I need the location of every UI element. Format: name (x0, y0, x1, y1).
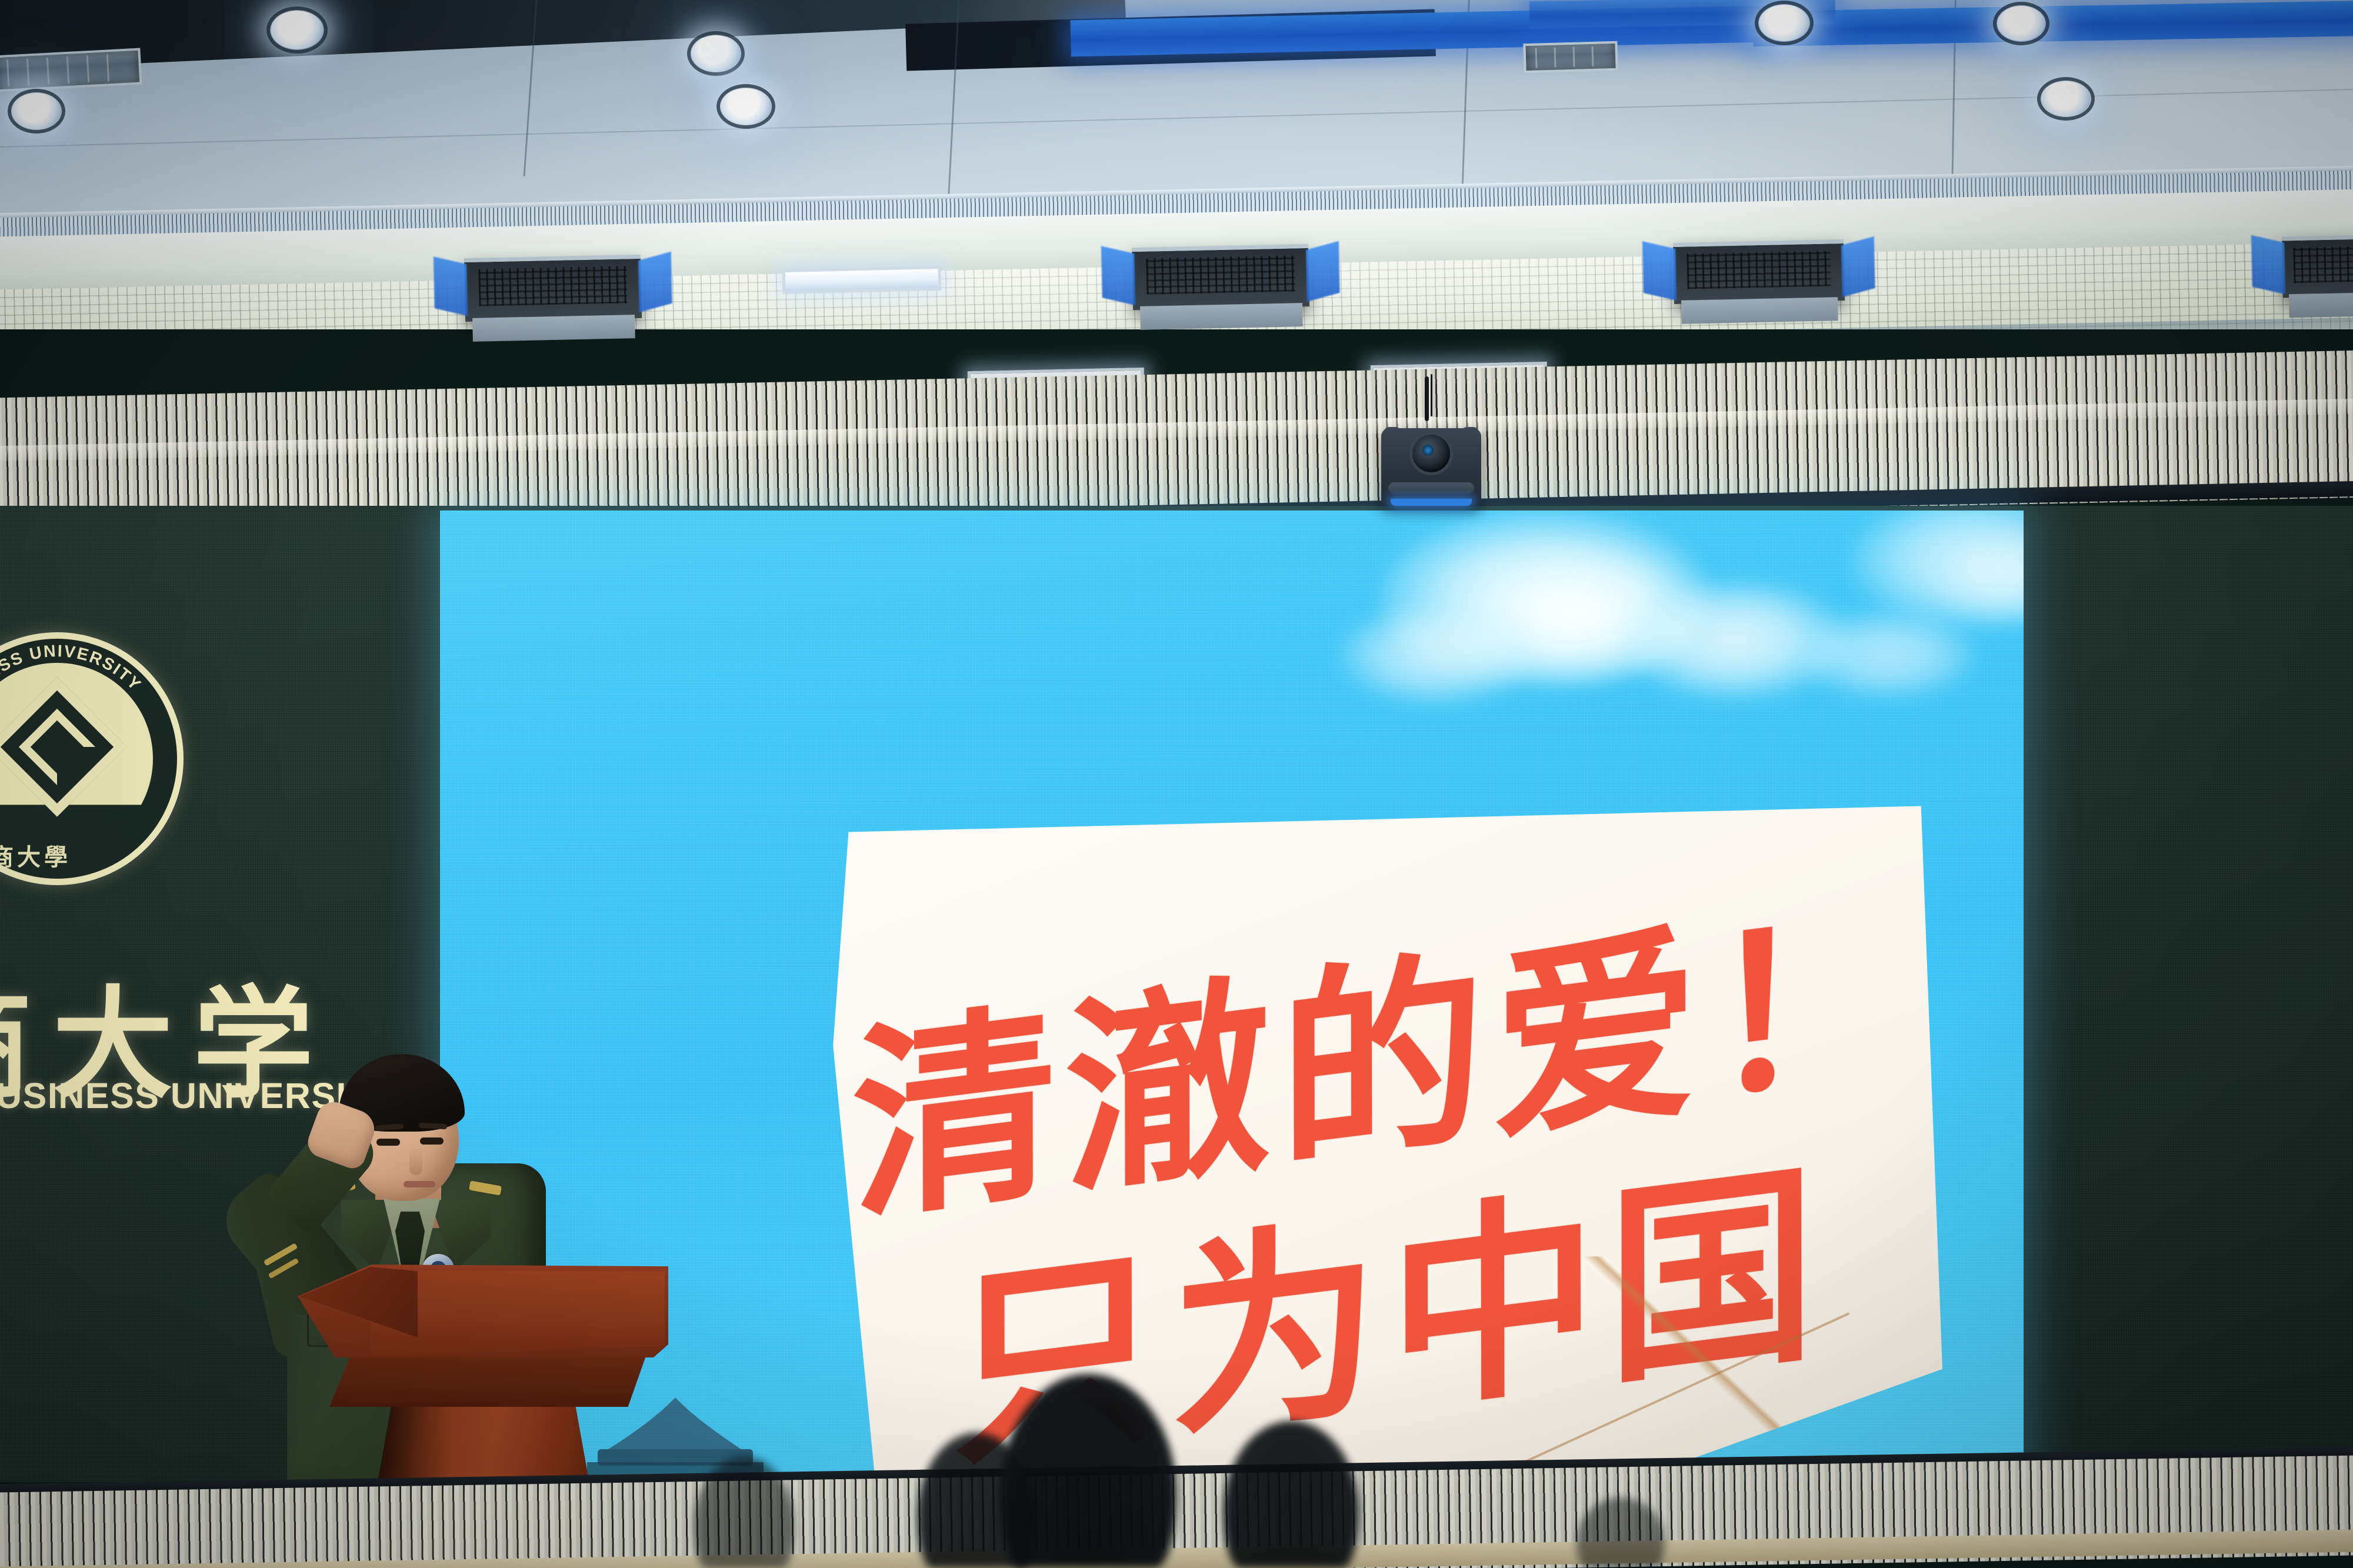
university-emblem: D BUSINESS UNIVERSITY 50 商大學 (0, 632, 184, 885)
speaker-eye-right (420, 1137, 444, 1145)
white-cloud (1340, 605, 1534, 705)
recessed-downlight (271, 11, 324, 49)
perforated-grille (478, 266, 627, 306)
blue-edge-glow (1841, 236, 1875, 297)
recessed-downlight (12, 93, 61, 129)
perforated-grille (1146, 255, 1295, 295)
ptz-conference-camera (1381, 412, 1481, 523)
ceiling-mounted-perforated-unit (464, 255, 642, 322)
perforated-grille (2294, 245, 2353, 283)
ceiling-seam (1, 89, 2353, 148)
speaker-nose (409, 1148, 422, 1175)
unit-housing (472, 315, 635, 342)
camera-status-light (1391, 499, 1472, 506)
recessed-downlight (691, 35, 741, 72)
emblem-arc-label: D BUSINESS UNIVERSITY (0, 642, 145, 748)
blue-edge-glow (2251, 235, 2285, 295)
linear-ceiling-lamp (782, 266, 942, 294)
perforated-grille (1687, 251, 1831, 289)
calligraphy-paper: 清澈的爱！ 只为中国 (831, 806, 1944, 1488)
ceiling-mounted-perforated-unit (1132, 244, 1309, 310)
blue-edge-glow (1306, 241, 1340, 302)
blue-edge-glow (1642, 241, 1677, 301)
recessed-downlight (2041, 81, 2091, 116)
recessed-downlight (1759, 5, 1809, 41)
emblem-chinese-mark: 商大學 (0, 838, 107, 872)
lectern-midsection (329, 1353, 647, 1407)
blue-edge-glow (1101, 246, 1135, 305)
hvac-linear-diffuser (0, 48, 142, 92)
unit-housing (2289, 292, 2353, 318)
ceiling-mounted-perforated-unit (2282, 233, 2353, 298)
blue-led-cove-strip (1753, 1, 2353, 46)
recessed-downlight (1997, 6, 2045, 41)
speaker-eye-left (376, 1139, 400, 1146)
blue-edge-glow (638, 252, 672, 312)
unit-housing (1140, 303, 1303, 330)
camera-cable (1425, 376, 1429, 421)
ceiling-mounted-perforated-unit (1673, 239, 1845, 304)
auditorium-scene: D BUSINESS UNIVERSITY 50 商大學 商大学 ND BUSI… (0, 0, 2353, 1568)
unit-housing (1681, 297, 1839, 324)
speaker-mouth (404, 1181, 435, 1187)
camera-ir-strip (1388, 482, 1474, 494)
recessed-downlight (721, 88, 771, 125)
svg-text:D BUSINESS UNIVERSITY: D BUSINESS UNIVERSITY (0, 642, 145, 748)
camera-lens (1409, 432, 1453, 475)
blue-edge-glow (434, 256, 468, 316)
hvac-linear-diffuser (1523, 41, 1618, 73)
